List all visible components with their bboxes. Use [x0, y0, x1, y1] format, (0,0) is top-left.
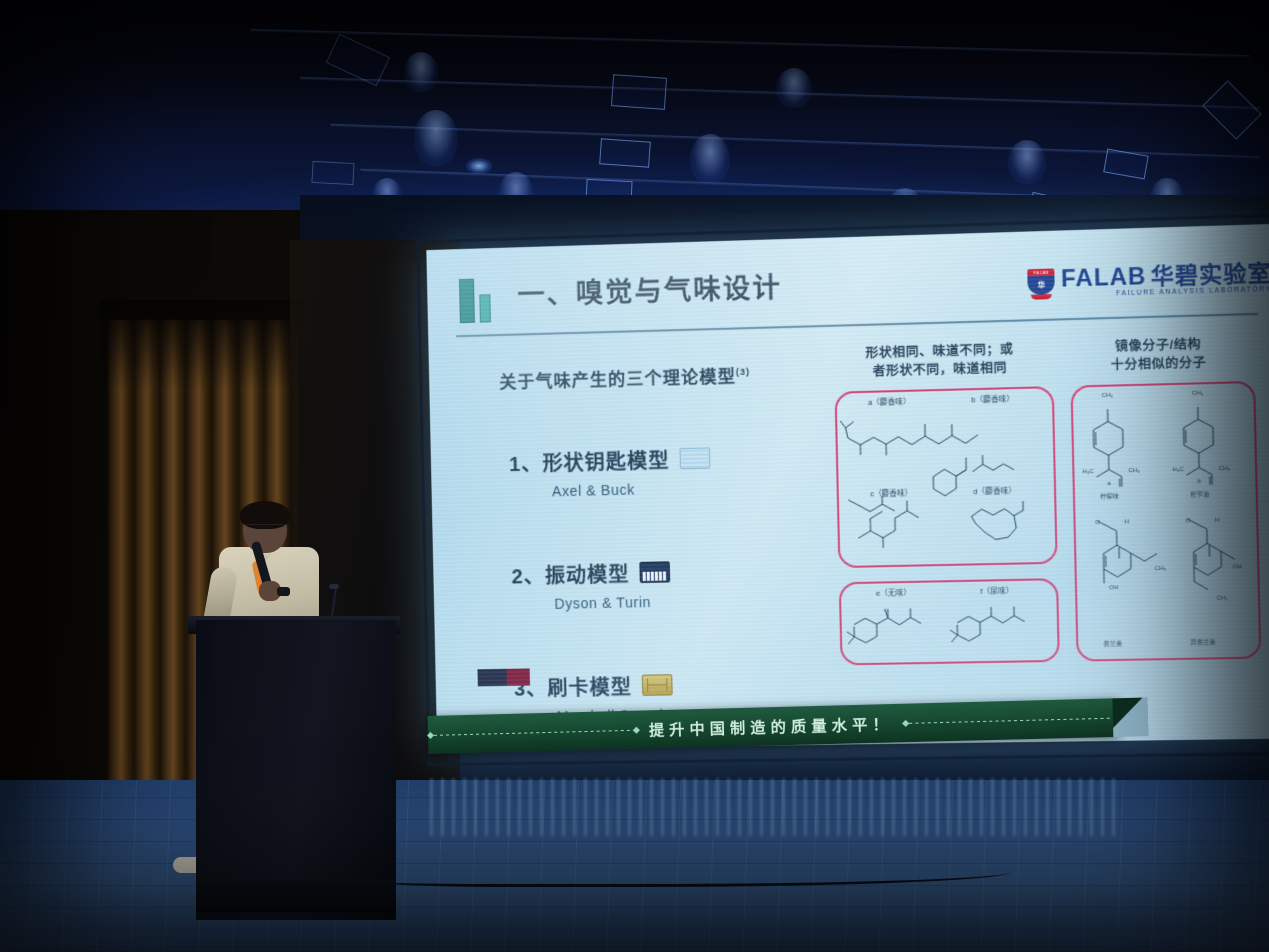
wristwatch	[277, 587, 290, 596]
podium	[196, 620, 396, 920]
ceiling-light-panel	[611, 74, 667, 110]
photo-scene: 一、嗅觉与气味设计 FALAB 华 FALAB 华碧实验室 FAILURE AN…	[0, 0, 1269, 952]
screen-reflection	[430, 778, 1120, 836]
podium-base	[196, 880, 396, 912]
banner-dotted-arrow-right	[903, 717, 1119, 723]
stage-spotlight	[776, 68, 812, 108]
projection-screen: 一、嗅觉与气味设计 FALAB 华 FALAB 华碧实验室 FAILURE AN…	[426, 223, 1269, 770]
screen-frame	[416, 213, 1269, 767]
banner-text: 提升中国制造的质量水平！	[649, 713, 893, 740]
ceiling-light-panel	[1202, 80, 1261, 139]
podium-microphone-head	[329, 584, 339, 589]
banner-dotted-arrow-left	[428, 729, 639, 735]
stage-spotlight	[404, 52, 438, 92]
banner-end-cap	[1112, 697, 1148, 737]
curtain-shadow	[100, 300, 305, 390]
glasses-icon	[246, 524, 284, 533]
